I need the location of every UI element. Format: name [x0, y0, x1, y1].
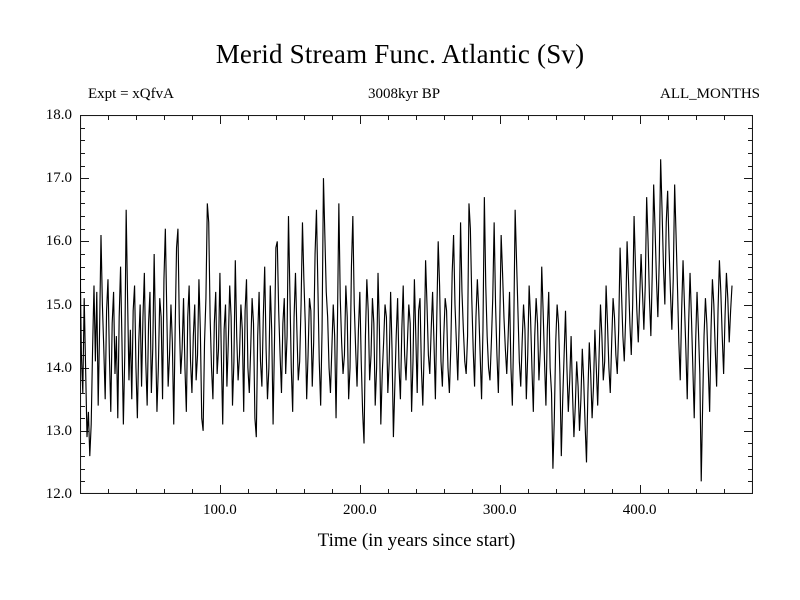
x-tick-label: 400.0	[595, 503, 685, 518]
x-tick-label: 100.0	[175, 503, 265, 518]
y-tick-label: 17.0	[14, 171, 72, 186]
y-tick-label: 12.0	[14, 487, 72, 502]
series-line-0	[80, 159, 732, 481]
plot-area	[80, 115, 753, 494]
x-tick-label: 200.0	[315, 503, 405, 518]
plot-svg	[80, 115, 753, 494]
x-axis-tick-labels: 100.0200.0300.0400.0	[80, 503, 753, 523]
data-series-layer	[80, 159, 732, 481]
y-tick-label: 15.0	[14, 298, 72, 313]
y-tick-label: 16.0	[14, 234, 72, 249]
months-label: ALL_MONTHS	[660, 84, 760, 104]
y-tick-label: 13.0	[14, 424, 72, 439]
y-axis-tick-labels: 12.013.014.015.016.017.018.0	[14, 115, 72, 494]
page-title: Merid Stream Func. Atlantic (Sv)	[0, 38, 800, 70]
y-tick-label: 14.0	[14, 361, 72, 376]
x-axis-title: Time (in years since start)	[80, 529, 753, 553]
subtitle-row: Expt = xQfvA 3008kyr BP ALL_MONTHS	[88, 84, 760, 106]
chart-figure: Merid Stream Func. Atlantic (Sv) Expt = …	[0, 0, 800, 600]
y-tick-label: 18.0	[14, 108, 72, 123]
x-tick-label: 300.0	[455, 503, 545, 518]
period-label: 3008kyr BP	[68, 84, 740, 104]
